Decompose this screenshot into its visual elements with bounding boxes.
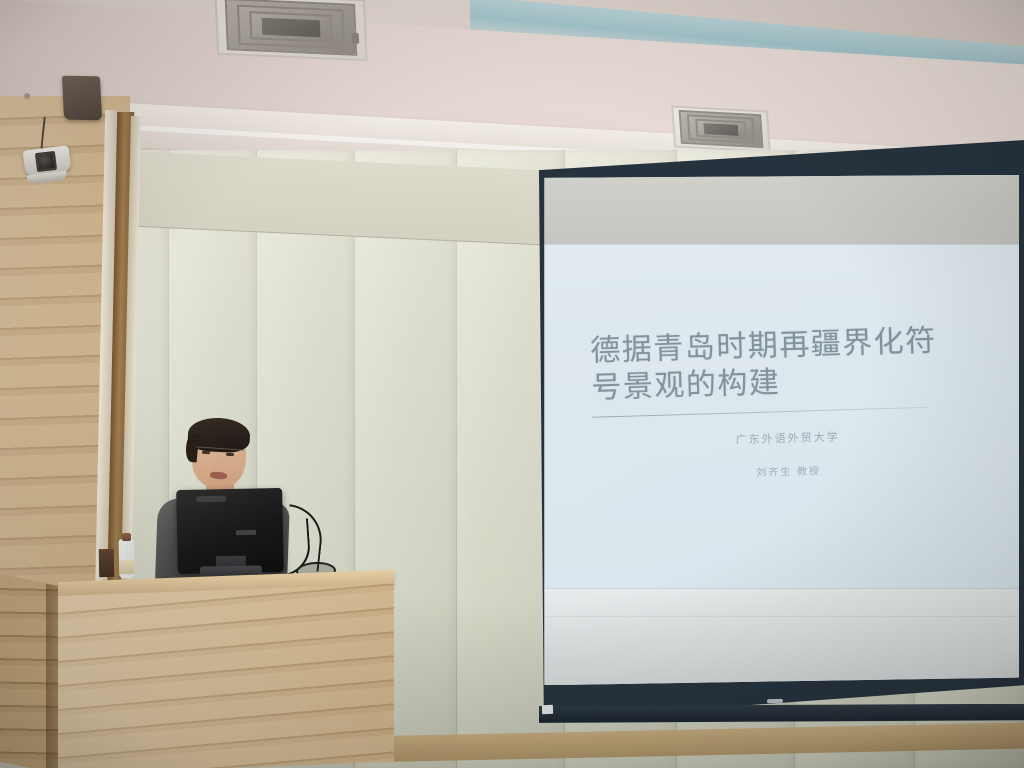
screen-crease — [544, 616, 1019, 617]
podium-object — [99, 549, 114, 577]
screen-bottom-band — [544, 588, 1019, 685]
projection-screen: 德据青岛时期再疆界化符 号景观的构建 广东外语外贸大学 刘齐生 教授 — [536, 140, 1024, 720]
screen-crease — [544, 244, 1019, 245]
screen-pull-handle[interactable] — [767, 698, 783, 702]
slide-content: 德据青岛时期再疆界化符 号景观的构建 广东外语外贸大学 刘齐生 教授 — [590, 322, 984, 484]
slide-divider — [592, 407, 927, 418]
bottle-label — [119, 560, 134, 574]
screen-crease — [544, 588, 1019, 589]
screen-end-cap — [542, 705, 553, 714]
lectern — [0, 574, 394, 768]
ceiling-speaker-icon — [62, 76, 102, 121]
air-diffuser-icon — [214, 0, 367, 61]
lectern-front-shading — [58, 584, 394, 768]
monitor-vent — [196, 496, 226, 503]
presenter-eye — [226, 453, 234, 457]
screen-top-band — [544, 175, 1019, 246]
ceiling-fixture-screw — [352, 33, 360, 44]
ceiling-anchor-point — [24, 93, 30, 99]
bottle-cap — [122, 533, 131, 541]
diffuser-core — [262, 18, 321, 38]
camera-lens-icon — [35, 151, 57, 172]
slide-organization: 广东外语外贸大学 — [593, 424, 983, 452]
screen-weight-bar — [539, 704, 1024, 723]
presenter-eye — [202, 451, 210, 455]
screen-surface: 德据青岛时期再疆界化符 号景观的构建 广东外语外贸大学 刘齐生 教授 — [544, 175, 1019, 685]
monitor-logo — [236, 530, 256, 535]
lecture-hall-photo: 德据青岛时期再疆界化符 号景观的构建 广东外语外贸大学 刘齐生 教授 — [0, 0, 1024, 768]
diffuser-core — [704, 123, 739, 136]
